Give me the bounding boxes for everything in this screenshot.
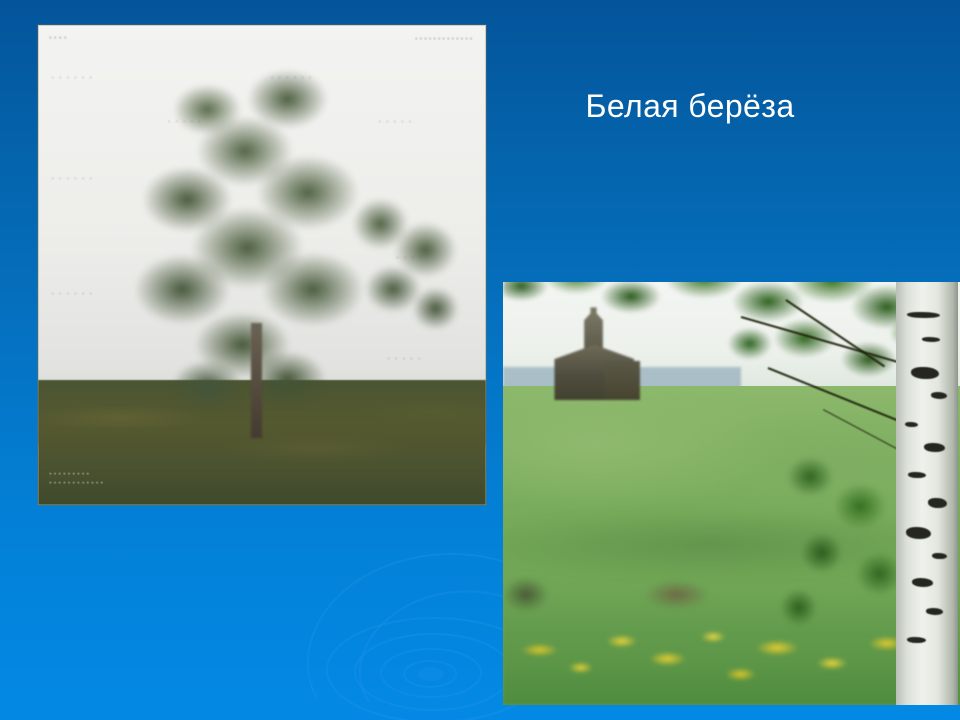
photo-watermark-tile: • • • • • • <box>51 176 93 183</box>
birch-trunk <box>251 323 262 438</box>
photo-watermark-tile: • • • • <box>396 255 423 262</box>
meadow-shadow <box>503 506 960 582</box>
church-annex <box>605 361 640 400</box>
birch-bark-mark <box>928 498 947 508</box>
photo-watermark-tile: • • • • • <box>387 356 421 363</box>
wooden-church-meadow-birch-photo[interactable] <box>503 282 960 705</box>
birch-tree-in-field-photo[interactable]: • • • • • • • • • • • • • • • • • • • • … <box>38 25 486 505</box>
photo-caption: • • • • • • • • • • • • • • • • • • • • … <box>49 470 103 488</box>
photo-caption-line: • • • • • • • • • • • • <box>49 479 103 488</box>
birch-bark-mark <box>931 392 947 399</box>
photo-watermark-tile: • • • • • <box>168 119 202 126</box>
church-tower <box>581 307 607 350</box>
birch-bark-mark <box>908 472 925 478</box>
photo-watermark-tile: • • • • • • <box>51 291 93 298</box>
birch-bark-mark <box>906 527 931 539</box>
birch-bark-mark <box>926 608 943 615</box>
birch-bark-mark <box>911 367 939 380</box>
birch-bark-mark <box>907 637 926 643</box>
photo-watermark-tile: • • • • • <box>378 119 412 126</box>
birch-bark-mark <box>924 443 945 452</box>
slide-title: Белая берёза <box>520 86 860 126</box>
birch-bark-mark <box>907 312 940 318</box>
birch-trunk <box>896 282 958 705</box>
birch-bark-mark <box>905 422 919 427</box>
birch-side-branch-foliage <box>343 188 468 351</box>
yellow-wildflowers <box>503 595 960 705</box>
photo-caption-line: • • • • • • • • • <box>49 470 103 479</box>
wooden-church <box>551 307 638 400</box>
photo-watermark-tile: • • • • • • <box>51 75 93 82</box>
photo-watermark-top-right: • • • • • • • • • • • • • <box>415 36 472 44</box>
swirl-decoration-icon <box>255 520 545 720</box>
birch-bark-mark <box>922 337 941 342</box>
birch-bark-mark <box>912 578 933 586</box>
photo-watermark-tile: • • • • • • <box>271 75 313 82</box>
birch-bark-mark <box>932 553 947 559</box>
photo-watermark-top-left: • • • • <box>49 36 67 42</box>
presentation-slide: • • • • • • • • • • • • • • • • • • • • … <box>0 0 960 720</box>
